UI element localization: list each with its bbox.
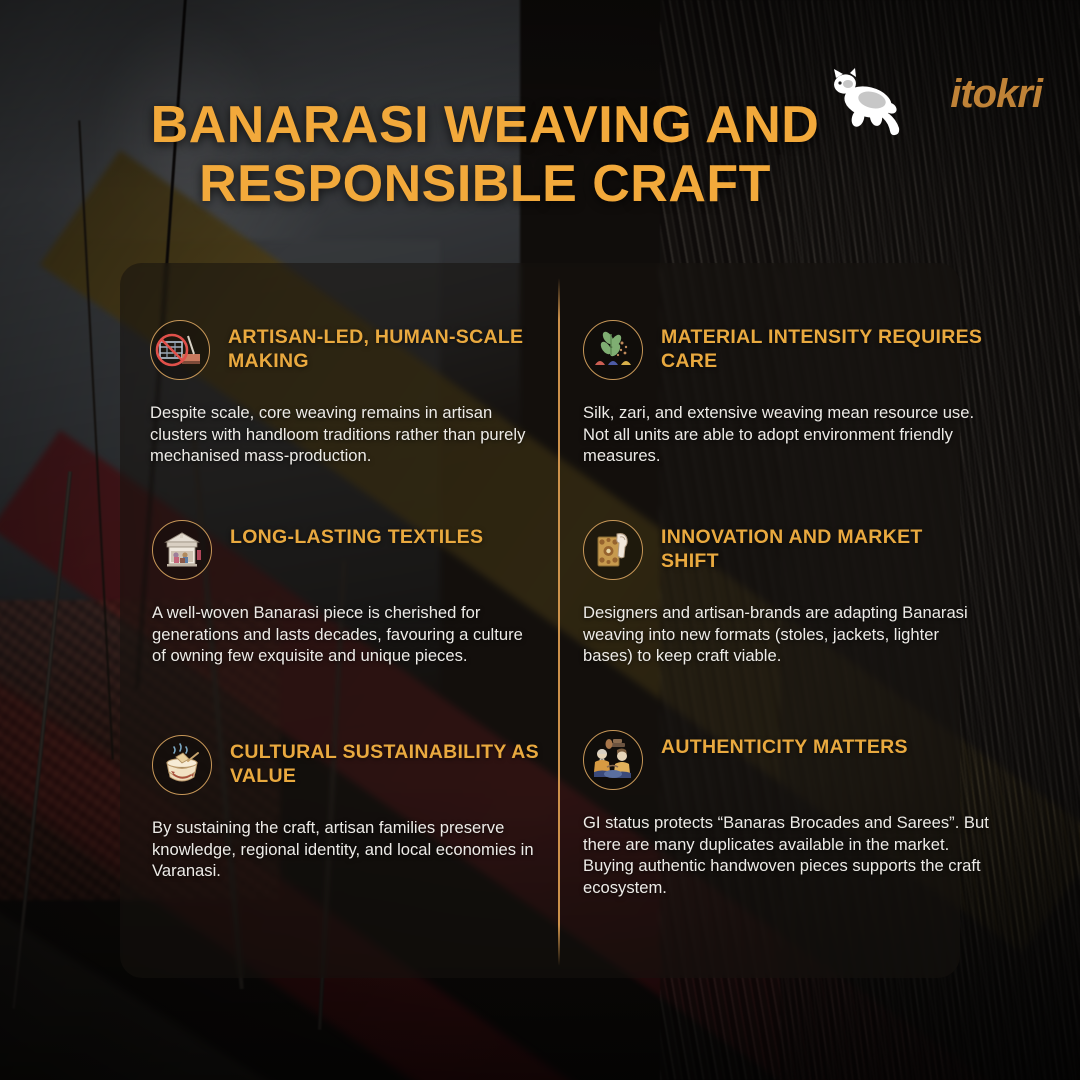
brand-logo[interactable]: itokri [832,38,1042,138]
card-title: INNOVATION AND MARKET SHIFT [661,520,983,574]
card-body: Silk, zari, and extensive weaving mean r… [583,402,983,467]
page-title: BANARASI WEAVING AND RESPONSIBLE CRAFT [70,96,900,214]
card-body: GI status protects “Banaras Brocades and… [583,812,993,898]
two-seated-artisans-icon [583,730,643,790]
card-material-intensity[interactable]: MATERIAL INTENSITY REQUIRES CARE Silk, z… [583,320,983,467]
card-cultural-sustainability[interactable]: CULTURAL SUSTAINABILITY AS VALUE By sust… [152,735,547,882]
card-title: MATERIAL INTENSITY REQUIRES CARE [661,320,983,374]
card-artisan-led[interactable]: ARTISAN-LED, HUMAN-SCALE MAKING Despite … [150,320,535,467]
page-title-line-2: RESPONSIBLE CRAFT [199,155,771,213]
card-long-lasting-textiles[interactable]: LONG-LASTING TEXTILES A well-woven Banar… [152,520,537,667]
craft-shop-storefront-icon [152,520,212,580]
card-title: CULTURAL SUSTAINABILITY AS VALUE [230,735,547,789]
leaves-and-dye-powders-icon [583,320,643,380]
card-body: Despite scale, core weaving remains in a… [150,402,535,467]
hand-holding-fabric-swatch-icon [583,520,643,580]
card-body: A well-woven Banarasi piece is cherished… [152,602,537,667]
card-title: AUTHENTICITY MATTERS [661,730,908,760]
brand-logo-text: itokri [950,72,1042,117]
header: BANARASI WEAVING AND RESPONSIBLE CRAFT i… [0,0,1080,250]
column-divider [558,278,560,966]
page-title-line-1: BANARASI WEAVING AND [151,96,820,154]
card-body: Designers and artisan-brands are adaptin… [583,602,983,667]
card-authenticity-matters[interactable]: AUTHENTICITY MATTERS GI status protects … [583,730,993,898]
no-machine-loom-icon [150,320,210,380]
cat-illustration-icon [828,68,912,142]
card-title: ARTISAN-LED, HUMAN-SCALE MAKING [228,320,535,374]
steaming-dye-pot-icon [152,735,212,795]
card-body: By sustaining the craft, artisan familie… [152,817,547,882]
card-innovation-market-shift[interactable]: INNOVATION AND MARKET SHIFT Designers an… [583,520,983,667]
card-title: LONG-LASTING TEXTILES [230,520,483,550]
